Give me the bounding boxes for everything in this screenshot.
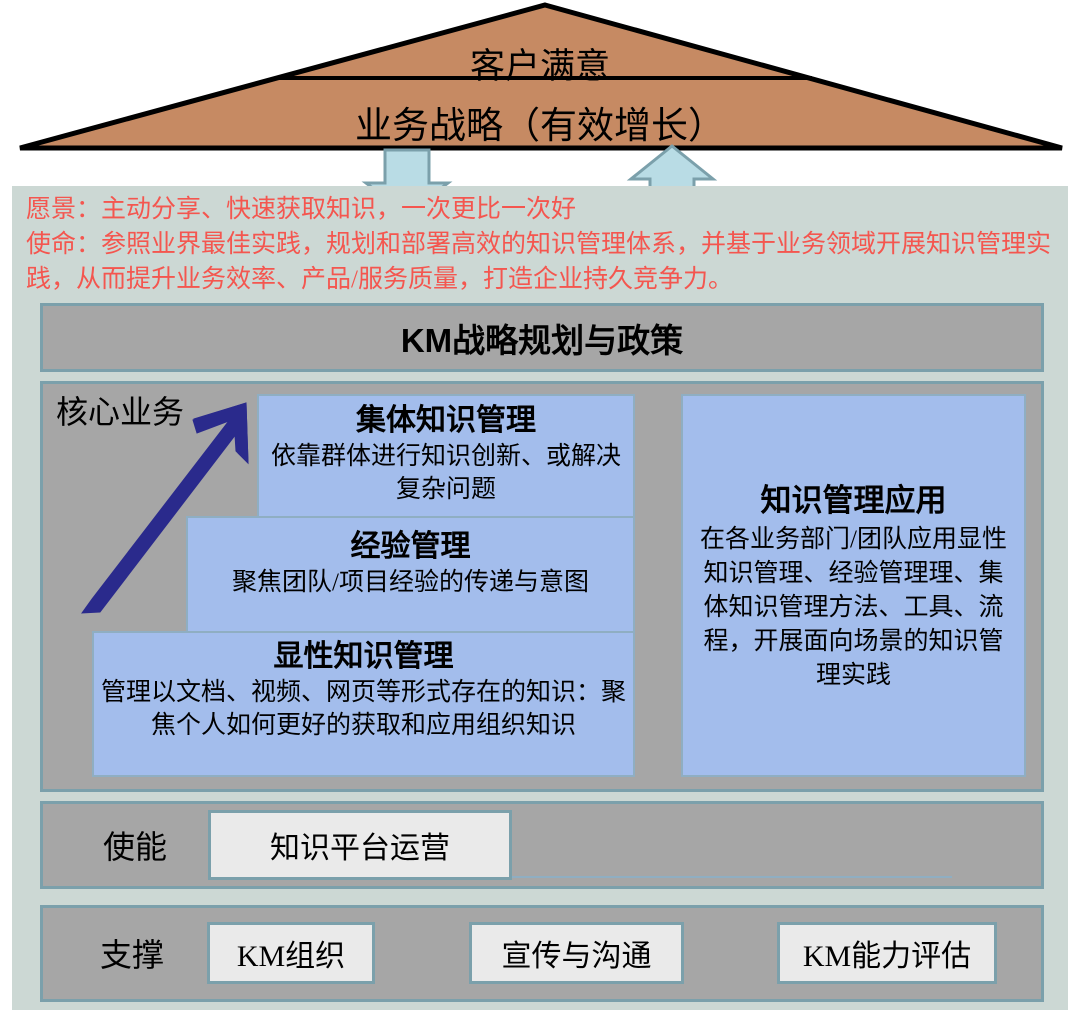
box-application-desc: 在各业务部门/团队应用显性知识管理、经验管理理、集体知识管理方法、工具、流程，开… xyxy=(693,523,1014,693)
enable-label: 使能 xyxy=(103,822,167,868)
box-promotion-communication[interactable]: 宣传与沟通 xyxy=(469,922,684,984)
km-strategy-bar[interactable]: KM战略规划与政策 xyxy=(40,303,1044,372)
box-km-capability-assessment[interactable]: KM能力评估 xyxy=(777,922,997,984)
box-collective-knowledge-management[interactable]: 集体知识管理 依靠群体进行知识创新、或解决复杂问题 xyxy=(257,394,635,518)
box-experience-management[interactable]: 经验管理 聚焦团队/项目经验的传递与意图 xyxy=(186,516,635,633)
mission-line: 使命：参照业界最佳实践，规划和部署高效的知识管理体系，并基于业务领域开展知识管理… xyxy=(26,227,1056,297)
box-explicit-title: 显性知识管理 xyxy=(94,638,633,676)
diagram-canvas: 客户满意 业务战略（有效增长） 愿景：主动分享、快速获取知识，一次更比一次好 使… xyxy=(0,0,1080,1016)
vision-mission-block: 愿景：主动分享、快速获取知识，一次更比一次好 使命：参照业界最佳实践，规划和部署… xyxy=(26,192,1056,297)
box-collective-desc: 依靠群体进行知识创新、或解决复杂问题 xyxy=(259,440,633,506)
box-km-organization[interactable]: KM组织 xyxy=(207,922,375,984)
up-arrow xyxy=(631,146,713,190)
vision-line: 愿景：主动分享、快速获取知识，一次更比一次好 xyxy=(26,192,1056,227)
core-business-label: 核心业务 xyxy=(56,387,184,433)
box-platform-label: 知识平台运营 xyxy=(270,823,450,867)
box-comm-label: 宣传与沟通 xyxy=(502,931,652,975)
down-arrow xyxy=(366,150,448,190)
box-experience-desc: 聚焦团队/项目经验的传递与意图 xyxy=(188,566,633,599)
enable-divider xyxy=(512,876,952,878)
box-assess-label: KM能力评估 xyxy=(803,931,971,975)
km-strategy-label: KM战略规划与政策 xyxy=(401,314,683,362)
box-org-label: KM组织 xyxy=(237,931,345,975)
box-collective-title: 集体知识管理 xyxy=(259,402,633,440)
box-explicit-desc: 管理以文档、视频、网页等形式存在的知识：聚焦个人如何更好的获取和应用组织知识 xyxy=(94,676,633,742)
support-label: 支撑 xyxy=(100,930,164,976)
box-knowledge-management-application[interactable]: 知识管理应用 在各业务部门/团队应用显性知识管理、经验管理理、集体知识管理方法、… xyxy=(681,394,1026,777)
box-experience-title: 经验管理 xyxy=(188,528,633,566)
box-knowledge-platform-operations[interactable]: 知识平台运营 xyxy=(208,810,512,880)
box-explicit-knowledge-management[interactable]: 显性知识管理 管理以文档、视频、网页等形式存在的知识：聚焦个人如何更好的获取和应… xyxy=(92,631,635,777)
roof-shape xyxy=(0,0,1080,190)
box-application-title: 知识管理应用 xyxy=(693,479,1014,523)
